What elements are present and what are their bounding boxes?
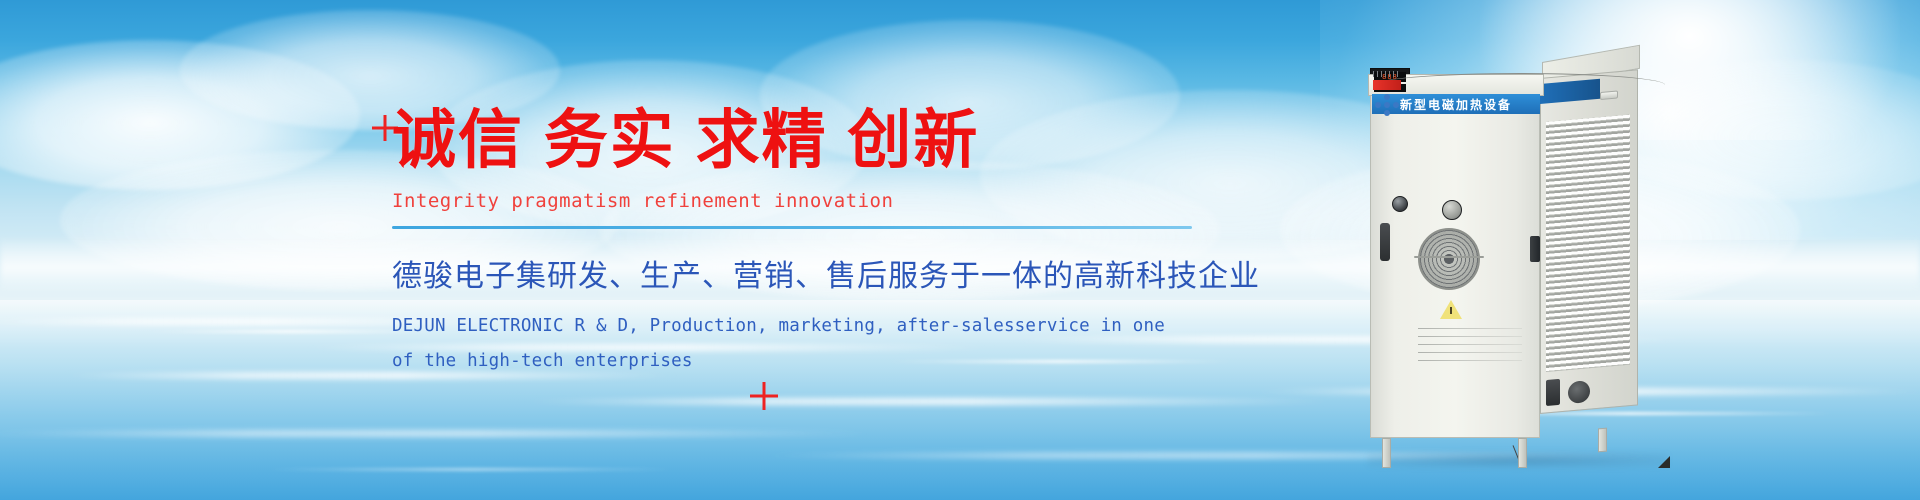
keypad-buttons[interactable] (1375, 94, 1399, 116)
keypad-key-up[interactable] (1384, 94, 1390, 100)
front-vent-slot (1380, 223, 1390, 261)
subtitle-english: DEJUN ELECTRONIC R & D, Production, mark… (392, 309, 1252, 379)
machine-side-handle (1600, 90, 1618, 100)
plus-mark-bottom (750, 382, 778, 410)
machine-leg-left (1382, 438, 1391, 468)
keypad-key-left[interactable] (1375, 102, 1381, 108)
keypad-key-right[interactable] (1393, 102, 1399, 108)
keypad-indicator-ticks (1373, 71, 1401, 77)
keypad-key-down[interactable] (1384, 110, 1390, 116)
adjust-knob[interactable] (1442, 200, 1462, 220)
spec-label-lines (1418, 328, 1522, 368)
wave-7 (0, 430, 880, 437)
gauge-corner-bezel (1658, 456, 1670, 468)
divider-rule (392, 226, 1192, 229)
subtitle-english-line1: DEJUN ELECTRONIC R & D, Production, mark… (392, 309, 1252, 344)
spec-line (1418, 360, 1522, 361)
fan-support-bar (1414, 256, 1484, 258)
cabinet-door-latch[interactable] (1530, 236, 1540, 262)
machine-side-louvers (1546, 115, 1630, 372)
machine-side-vent-rect (1546, 379, 1560, 406)
banner-copy: 诚信 务实 求精 创新 Integrity pragmatism refinem… (392, 108, 1252, 379)
headline-chinese: 诚信 务实 求精 创新 (392, 108, 1252, 172)
wave-4 (520, 398, 1340, 405)
headline-english: Integrity pragmatism refinement innovati… (392, 190, 1252, 212)
subtitle-chinese: 德骏电子集研发、生产、营销、售后服务于一体的高新科技企业 (392, 251, 1252, 295)
machine-leg-rear (1598, 428, 1607, 453)
product-machine: 新型电磁加热设备 888 0.0 (1370, 68, 1670, 468)
spec-line (1418, 344, 1522, 345)
shimmer-4 (260, 468, 680, 471)
spec-line (1418, 352, 1522, 353)
machine-nameplate-text: 新型电磁加热设备 (1400, 96, 1512, 113)
keypad-key-center[interactable] (1384, 102, 1390, 108)
subtitle-english-line2: of the high-tech enterprises (392, 344, 1252, 379)
keypad-display-bar (1373, 80, 1401, 90)
warning-triangle-icon (1440, 300, 1462, 319)
cooling-fan-grille (1418, 228, 1480, 290)
hero-banner: 诚信 务实 求精 创新 Integrity pragmatism refinem… (0, 0, 1920, 500)
spec-line (1418, 328, 1522, 329)
machine-leg-right (1518, 438, 1527, 468)
spec-line (1418, 336, 1522, 337)
power-selector-knob[interactable] (1392, 196, 1408, 212)
